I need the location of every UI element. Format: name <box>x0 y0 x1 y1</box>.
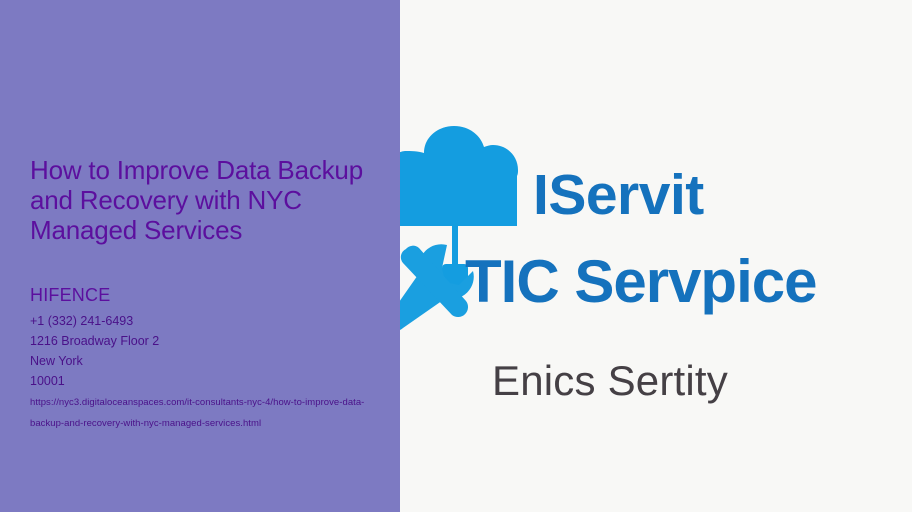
contact-city: New York <box>30 351 370 371</box>
brand-name: HIFENCE <box>30 285 110 305</box>
page-title: How to Improve Data Backup and Recovery … <box>30 155 375 245</box>
contact-zip: 10001 <box>30 371 370 391</box>
logo-wordmark-secondary: TIC Servpice <box>465 249 817 315</box>
source-url-link[interactable]: https://nyc3.digitaloceanspaces.com/it-c… <box>30 392 365 434</box>
logo-wordmark-primary: IServit <box>533 164 704 226</box>
article-info-panel: How to Improve Data Backup and Recovery … <box>0 0 400 512</box>
article-promo-card: How to Improve Data Backup and Recovery … <box>0 0 912 512</box>
contact-street: 1216 Broadway Floor 2 <box>30 331 370 351</box>
contact-phone: +1 (332) 241-6493 <box>30 311 370 331</box>
logo-tagline: Enics Sertity <box>492 356 728 406</box>
contact-block: +1 (332) 241-6493 1216 Broadway Floor 2 … <box>30 311 370 391</box>
logo-area: IServit TIC Servpice Enics Sertity <box>400 0 912 512</box>
